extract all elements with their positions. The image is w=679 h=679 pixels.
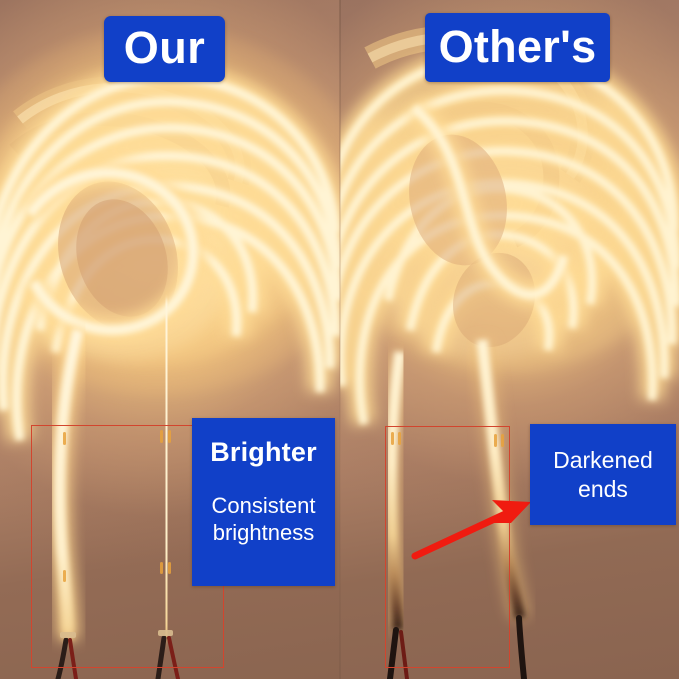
roi-rectangle-others [385,426,510,668]
comparison-image: Our Other's Brighter Consistent brightne… [0,0,679,679]
callout-our-headline: Brighter [210,439,317,466]
callout-our-subline: Consistent brightness [212,493,316,547]
callout-our: Brighter Consistent brightness [192,418,335,586]
badge-others: Other's [425,13,610,82]
callout-others-line2: ends [578,476,628,502]
callout-others: Darkened ends [530,424,676,525]
callout-our-subline-line1: Consistent [212,493,316,518]
badge-our-label: Our [124,25,206,73]
callout-others-headline: Darkened ends [553,446,653,504]
badge-others-label: Other's [439,24,597,72]
panel-divider [339,0,341,679]
badge-our: Our [104,16,225,82]
callout-others-line1: Darkened [553,447,653,473]
callout-our-subline-line2: brightness [213,520,315,545]
